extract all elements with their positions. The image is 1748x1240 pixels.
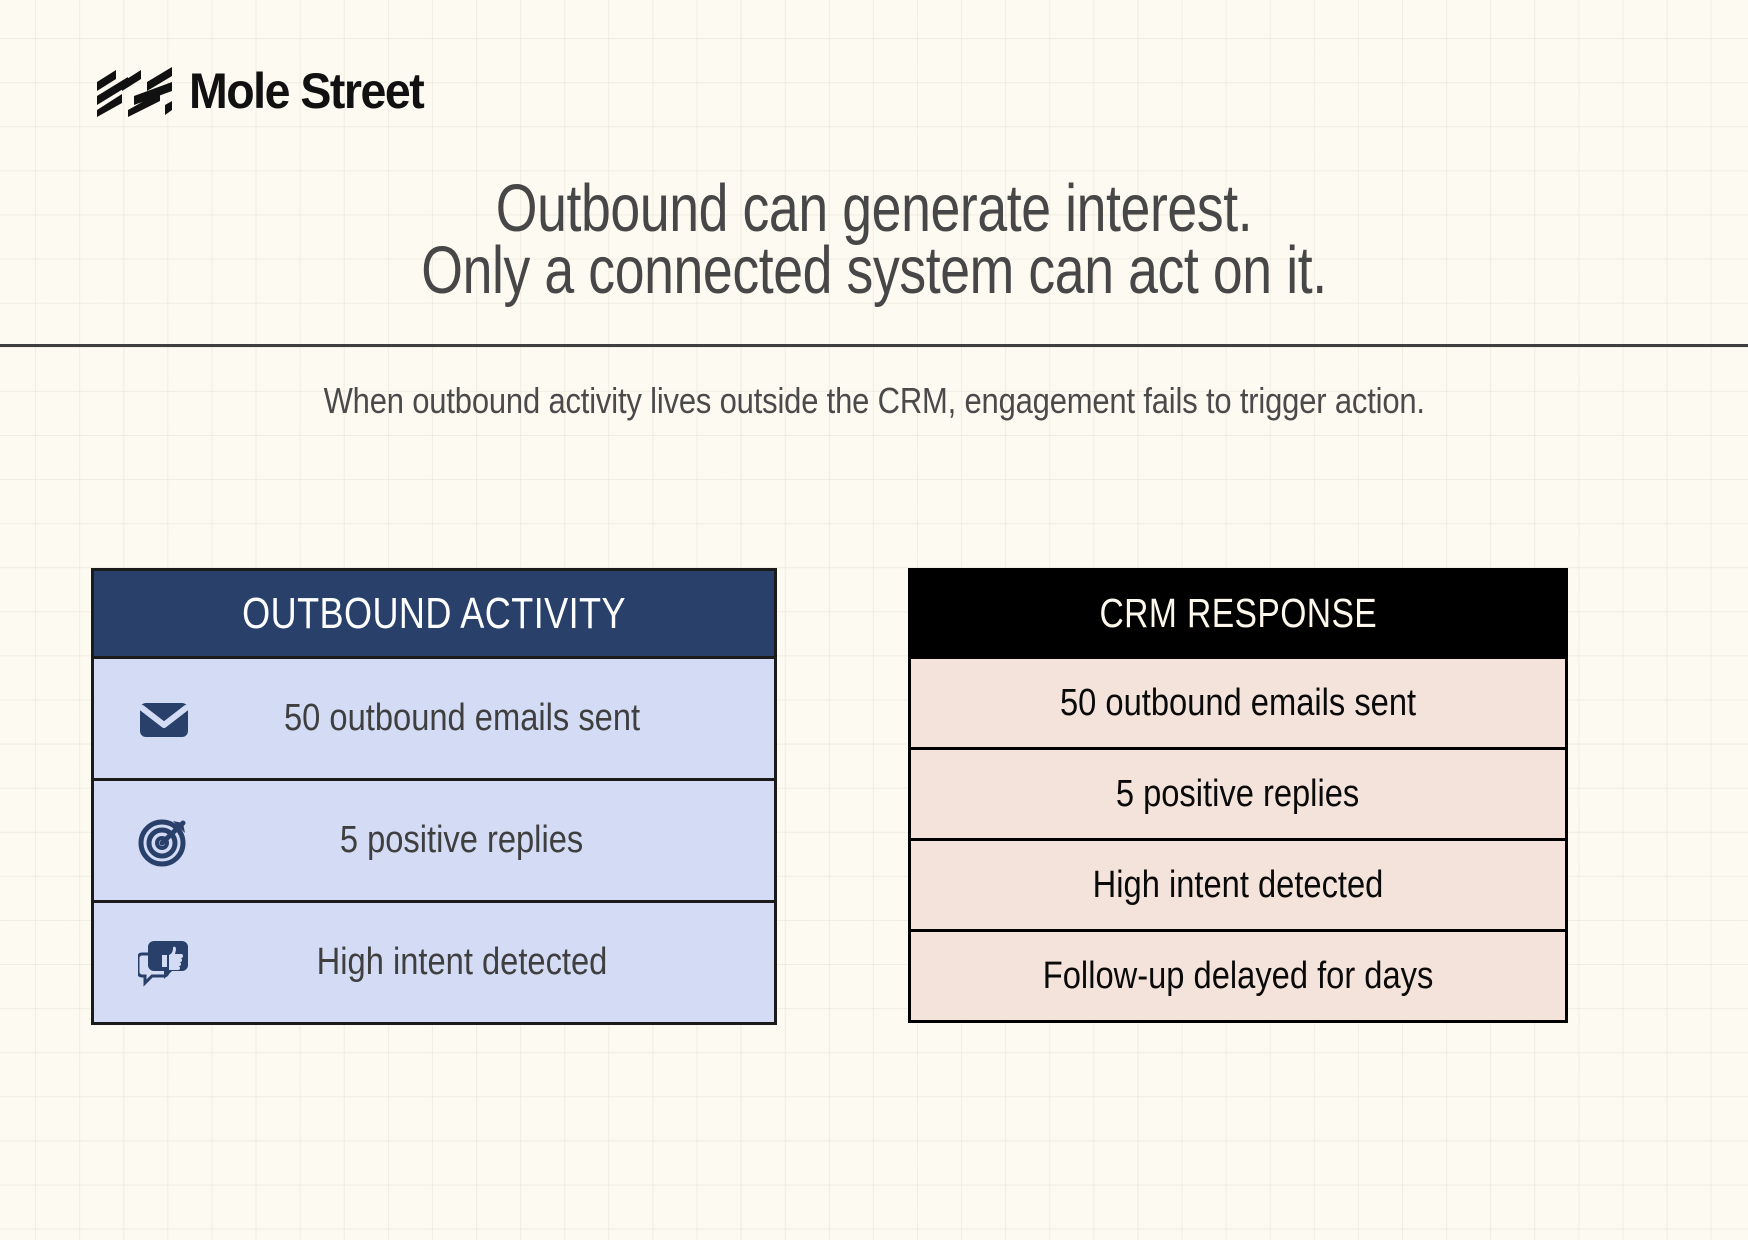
table-row: 5 positive replies [908, 750, 1568, 841]
table-cell-text: High intent detected [1093, 864, 1384, 907]
outbound-activity-panel: OUTBOUND ACTIVITY 50 outbound emails sen… [91, 568, 777, 1025]
crm-response-panel: CRM RESPONSE 50 outbound emails sent 5 p… [908, 568, 1568, 1023]
target-bullseye-icon [138, 815, 190, 867]
table-cell-text: Follow-up delayed for days [1043, 955, 1434, 998]
table-row-label: 5 positive replies [190, 819, 774, 862]
table-cell-text: 50 outbound emails sent [1060, 682, 1416, 725]
crm-response-header-label: CRM RESPONSE [1099, 590, 1377, 637]
table-row: High intent detected [908, 841, 1568, 932]
table-row: High intent detected [91, 903, 777, 1025]
comparison-panels: OUTBOUND ACTIVITY 50 outbound emails sen… [0, 0, 1748, 1240]
table-row: 50 outbound emails sent [91, 659, 777, 781]
table-row-label: High intent detected [190, 941, 774, 984]
table-row: 5 positive replies [91, 781, 777, 903]
table-row-label: 50 outbound emails sent [190, 697, 774, 740]
thumbs-up-speech-bubble-icon [138, 937, 190, 989]
table-cell-text: 5 positive replies [340, 819, 583, 862]
table-cell-text: 50 outbound emails sent [284, 697, 640, 740]
table-cell-text: 5 positive replies [1116, 773, 1359, 816]
table-row: Follow-up delayed for days [908, 932, 1568, 1023]
outbound-activity-header-label: OUTBOUND ACTIVITY [242, 589, 626, 639]
crm-response-header: CRM RESPONSE [908, 568, 1568, 659]
outbound-activity-header: OUTBOUND ACTIVITY [91, 568, 777, 659]
envelope-icon [138, 693, 190, 745]
table-row: 50 outbound emails sent [908, 659, 1568, 750]
table-cell-text: High intent detected [317, 941, 608, 984]
